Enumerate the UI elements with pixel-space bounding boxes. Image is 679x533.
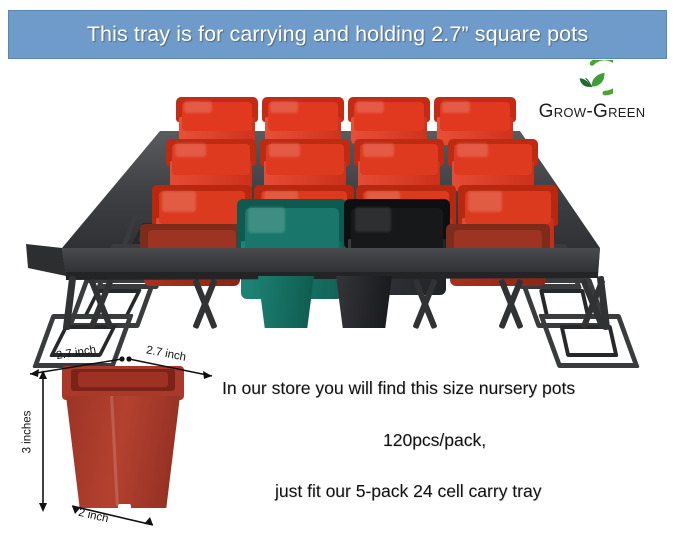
- pot-teal-bottom: [258, 276, 314, 328]
- marketing-copy: In our store you will find this size nur…: [218, 368, 673, 528]
- banner-title: This tray is for carrying and holding 2.…: [87, 22, 588, 47]
- tray-product-photo: [0, 86, 679, 338]
- pot-red: [448, 139, 538, 191]
- pot-red: [176, 97, 258, 145]
- copy-line-2: 120pcs/pack,: [383, 430, 486, 451]
- copy-line-1: In our store you will find this size nur…: [222, 378, 575, 399]
- tray-brace: [560, 278, 626, 330]
- header-banner: This tray is for carrying and holding 2.…: [8, 10, 667, 59]
- pot-red: [446, 224, 550, 286]
- pot-dimension-diagram: 2.7 inch 2.7 inch 3 inches 2 inch: [0, 338, 240, 533]
- tray-brace: [172, 278, 238, 330]
- pot-red: [140, 224, 244, 286]
- copy-line-3: just fit our 5-pack 24 cell carry tray: [275, 481, 541, 502]
- pot-red: [166, 139, 256, 191]
- pot-black-bottom: [336, 276, 392, 328]
- dim-label-height: 3 inches: [21, 411, 33, 454]
- pot-red: [354, 139, 444, 191]
- tray-brace: [392, 278, 458, 330]
- pot-red: [434, 97, 516, 145]
- dimension-lines: [0, 338, 240, 533]
- tray-brace: [68, 278, 134, 330]
- pot-red: [260, 139, 350, 191]
- tray-brace: [478, 278, 544, 330]
- pot-red: [262, 97, 344, 145]
- pot-red: [348, 97, 430, 145]
